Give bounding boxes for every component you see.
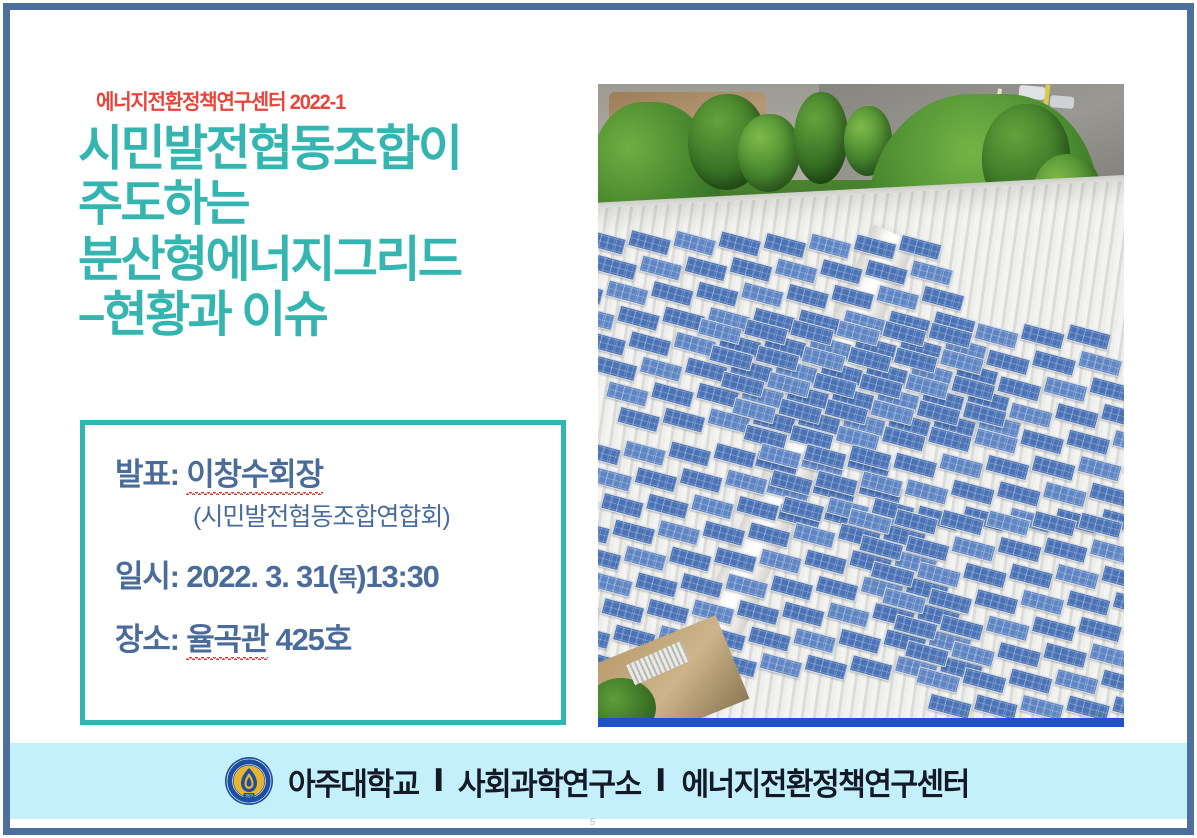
solar-panel — [1054, 563, 1100, 591]
solar-panel — [598, 228, 627, 255]
solar-panel — [909, 259, 954, 286]
solar-panel — [1008, 563, 1054, 591]
solar-panel — [650, 381, 695, 408]
solar-panel — [951, 535, 997, 563]
solar-panel — [804, 653, 849, 680]
solar-panel — [984, 453, 1030, 481]
solar-panel — [985, 348, 1031, 376]
solar-panel — [1088, 643, 1124, 671]
solar-panel — [814, 469, 859, 496]
panel-array-lower-right — [848, 497, 1124, 724]
solar-panel — [858, 373, 904, 401]
solar-panel — [939, 347, 985, 375]
solar-panel — [731, 397, 777, 425]
venue-row: 장소: 율곡관 425호 — [115, 622, 547, 658]
solar-panel — [1020, 322, 1066, 350]
solar-panel — [724, 573, 769, 600]
venue-room: 425호 — [276, 622, 351, 657]
solar-panel — [713, 546, 758, 573]
solar-panel — [661, 407, 706, 434]
solar-panel — [785, 282, 830, 309]
solar-panel — [766, 371, 812, 399]
solar-panel — [774, 257, 819, 284]
solar-panel — [777, 398, 823, 426]
solar-panel — [893, 347, 939, 375]
solar-panel — [1031, 349, 1077, 377]
solar-panel — [645, 493, 690, 520]
solar-panel — [672, 230, 717, 257]
solar-panel — [853, 233, 898, 260]
solar-panel — [769, 469, 814, 496]
solar-panel — [973, 427, 1019, 455]
solar-panel — [740, 282, 785, 309]
svg-text:1973: 1973 — [245, 794, 253, 798]
solar-panel — [1066, 590, 1112, 618]
footer-institute: 사회과학연구소 — [457, 759, 640, 804]
title-line-2: 주도하는 — [78, 177, 588, 232]
solar-panel — [939, 509, 985, 537]
solar-panel — [1042, 375, 1088, 403]
solar-panel — [881, 320, 927, 348]
left-content-column: 에너지전환정책연구센터 2022-1 시민발전협동조합이 주도하는 분산형에너지… — [0, 0, 590, 740]
solar-panel — [1123, 455, 1124, 483]
solar-panel — [962, 400, 1008, 428]
solar-panel — [702, 520, 747, 547]
solar-panel — [627, 229, 672, 256]
solar-panel — [598, 254, 638, 281]
solar-panel — [1077, 616, 1123, 644]
solar-panel — [712, 441, 757, 468]
presentation-slide: 에너지전환정책연구센터 2022-1 시민발전협동조합이 주도하는 분산형에너지… — [0, 0, 1197, 838]
title-line-1: 시민발전협동조합이 — [78, 122, 588, 177]
solar-panel — [1077, 455, 1123, 483]
ajou-university-logo-icon: 1973 — [224, 756, 274, 806]
solar-panel — [1054, 668, 1100, 696]
series-kicker-label: 에너지전환정책연구센터 2022-1 — [96, 86, 345, 116]
solar-panel — [598, 518, 611, 545]
title-line-4: –현황과 이슈 — [78, 288, 588, 343]
solar-panel — [1008, 668, 1054, 696]
solar-panel — [769, 574, 814, 601]
solar-panel — [762, 231, 807, 258]
solar-panel — [985, 615, 1031, 643]
solar-panel — [1100, 564, 1124, 592]
solar-panel — [598, 544, 623, 571]
solar-panel — [729, 256, 774, 283]
venue-label: 장소: — [115, 622, 179, 657]
datetime-value-after: )13:30 — [356, 559, 438, 594]
datetime-weekday: 목 — [337, 566, 356, 591]
solar-panel — [656, 519, 701, 546]
solar-panel — [1111, 429, 1124, 457]
solar-panel — [939, 614, 985, 642]
solar-panel — [747, 521, 792, 548]
solar-panel — [915, 666, 961, 694]
solar-panel — [859, 470, 904, 497]
solar-panel — [1100, 402, 1124, 430]
solar-panel — [974, 322, 1020, 350]
datetime-label: 일시: — [115, 559, 179, 594]
solar-panel — [803, 443, 848, 470]
solar-panel — [962, 562, 1008, 590]
solar-panel — [973, 588, 1019, 616]
solar-panel — [835, 320, 881, 348]
solar-panel — [611, 519, 656, 546]
solar-panel — [684, 255, 729, 282]
solar-panel — [1089, 537, 1124, 565]
solar-panel — [598, 571, 634, 598]
solar-panel — [598, 596, 600, 623]
solar-panel — [1065, 428, 1111, 456]
solar-panel — [1008, 401, 1054, 429]
solar-panel — [848, 444, 893, 471]
solar-panel — [864, 258, 909, 285]
solar-panel — [996, 480, 1042, 508]
solar-panel — [598, 304, 616, 331]
solar-panel — [1031, 510, 1077, 538]
solar-panel — [735, 494, 780, 521]
solar-panel — [893, 613, 939, 641]
solar-panel — [598, 491, 600, 518]
solar-panel — [1123, 617, 1124, 645]
solar-panel — [600, 492, 645, 519]
solar-panel — [808, 232, 853, 259]
solar-panel — [616, 406, 661, 433]
solar-panel — [904, 373, 950, 401]
solar-panel — [801, 345, 847, 373]
solar-panel — [858, 534, 904, 562]
solar-panel — [598, 623, 612, 650]
solar-panel — [695, 281, 740, 308]
title-line-3: 분산형에너지그리드 — [78, 233, 588, 288]
solar-panel — [668, 546, 713, 573]
solar-panel — [898, 234, 943, 261]
solar-panel — [639, 356, 684, 383]
solar-panel — [1077, 350, 1123, 378]
solar-panel — [950, 374, 996, 402]
solar-panel — [679, 467, 724, 494]
solar-panel — [622, 440, 667, 467]
solar-panel — [847, 508, 893, 536]
solar-panel — [789, 319, 835, 347]
solar-panel — [781, 600, 826, 627]
solar-panel — [792, 627, 837, 654]
solar-panel — [759, 652, 804, 679]
tree-2 — [738, 114, 800, 192]
solar-panel — [893, 508, 939, 536]
solar-panel — [961, 667, 1007, 695]
solar-panel — [697, 318, 743, 346]
page-number: 5 — [590, 817, 595, 827]
solar-panel — [904, 640, 950, 668]
solar-panel — [634, 466, 679, 493]
solar-panel — [598, 330, 627, 357]
solar-panel — [1019, 427, 1065, 455]
solar-panel — [1043, 537, 1089, 565]
footer-band: 1973 아주대학교 Ⅰ 사회과학연구소 Ⅰ 에너지전환정책연구센터 — [10, 743, 1187, 819]
event-details-box: 발표: 이창수회장 (시민발전협동조합연합회) 일시: 2022. 3. 31(… — [80, 420, 566, 725]
solar-panel — [927, 693, 973, 721]
speaker-name: 이창수회장 — [186, 457, 323, 493]
solar-panel — [1089, 376, 1124, 404]
solar-panel — [708, 344, 754, 372]
solar-panel — [736, 599, 781, 626]
solar-panel — [847, 346, 893, 374]
solar-panel — [1042, 642, 1088, 670]
solar-panel — [780, 495, 825, 522]
solar-panel — [638, 255, 683, 282]
solar-panel — [747, 626, 792, 653]
solar-panel — [920, 285, 965, 312]
solar-panel — [598, 466, 634, 493]
footer-center: 에너지전환정책연구센터 — [681, 759, 968, 804]
solar-panel — [758, 547, 803, 574]
solar-panel — [1054, 402, 1100, 430]
solar-panel — [803, 548, 848, 575]
solar-panel — [724, 468, 769, 495]
solar-panel — [819, 258, 864, 285]
solar-panel — [717, 231, 762, 258]
solar-panel — [985, 510, 1031, 538]
photo-bottom-accent-bar — [598, 718, 1124, 727]
solar-panel — [996, 641, 1042, 669]
solar-panel — [667, 441, 712, 468]
solar-panel — [598, 439, 622, 466]
solar-panel — [646, 598, 691, 625]
solar-panel — [690, 494, 735, 521]
solar-panel — [598, 279, 605, 306]
solar-panel — [1100, 669, 1124, 697]
solar-panel — [598, 355, 639, 382]
parked-car-2 — [1050, 95, 1075, 109]
solar-panel — [1031, 454, 1077, 482]
solar-panel — [830, 283, 875, 310]
solar-panel — [997, 536, 1043, 564]
solar-panel — [758, 442, 803, 469]
solar-panel — [1031, 615, 1077, 643]
datetime-row: 일시: 2022. 3. 31(목)13:30 — [115, 559, 547, 595]
solar-panel — [627, 330, 672, 357]
speaker-label: 발표: — [115, 457, 179, 492]
datetime-value-before: 2022. 3. 31( — [186, 559, 337, 594]
solar-panel — [650, 280, 695, 307]
solar-panel — [616, 305, 661, 332]
solar-panel — [875, 284, 920, 311]
solar-panel — [996, 375, 1042, 403]
solar-panel — [904, 535, 950, 563]
solar-panel — [870, 560, 916, 588]
solar-panel — [743, 318, 789, 346]
solar-panel — [623, 545, 668, 572]
solar-panel — [1019, 589, 1065, 617]
footer-separator-1: Ⅰ — [433, 763, 443, 799]
solar-panel — [973, 693, 1019, 721]
footer-separator-2: Ⅰ — [655, 763, 665, 799]
solar-panel — [916, 561, 962, 589]
solar-panel — [605, 279, 650, 306]
solar-panel — [950, 640, 996, 668]
solar-panel — [927, 588, 973, 616]
speaker-affiliation: (시민발전협동조합연합회) — [115, 497, 547, 533]
solar-panel — [792, 522, 837, 549]
rooftop-solar-photo — [598, 84, 1124, 724]
solar-panel — [927, 321, 973, 349]
solar-panel — [600, 597, 645, 624]
solar-panel — [634, 571, 679, 598]
slide-title: 시민발전협동조합이 주도하는 분산형에너지그리드 –현황과 이슈 — [78, 122, 588, 343]
solar-panel — [754, 345, 800, 373]
tree-3 — [794, 92, 848, 184]
solar-panel — [679, 572, 724, 599]
solar-panel — [605, 380, 650, 407]
speaker-row: 발표: 이창수회장 — [115, 457, 547, 493]
footer-organization: 아주대학교 — [288, 759, 419, 804]
solar-panel — [720, 370, 766, 398]
venue-building: 율곡관 — [186, 622, 268, 658]
solar-panel — [1066, 323, 1112, 351]
solar-panel — [1077, 511, 1123, 539]
photo-scene — [598, 84, 1124, 724]
solar-panel — [1112, 590, 1124, 618]
solar-panel — [823, 398, 869, 426]
solar-panel — [881, 587, 927, 615]
solar-panel — [812, 372, 858, 400]
